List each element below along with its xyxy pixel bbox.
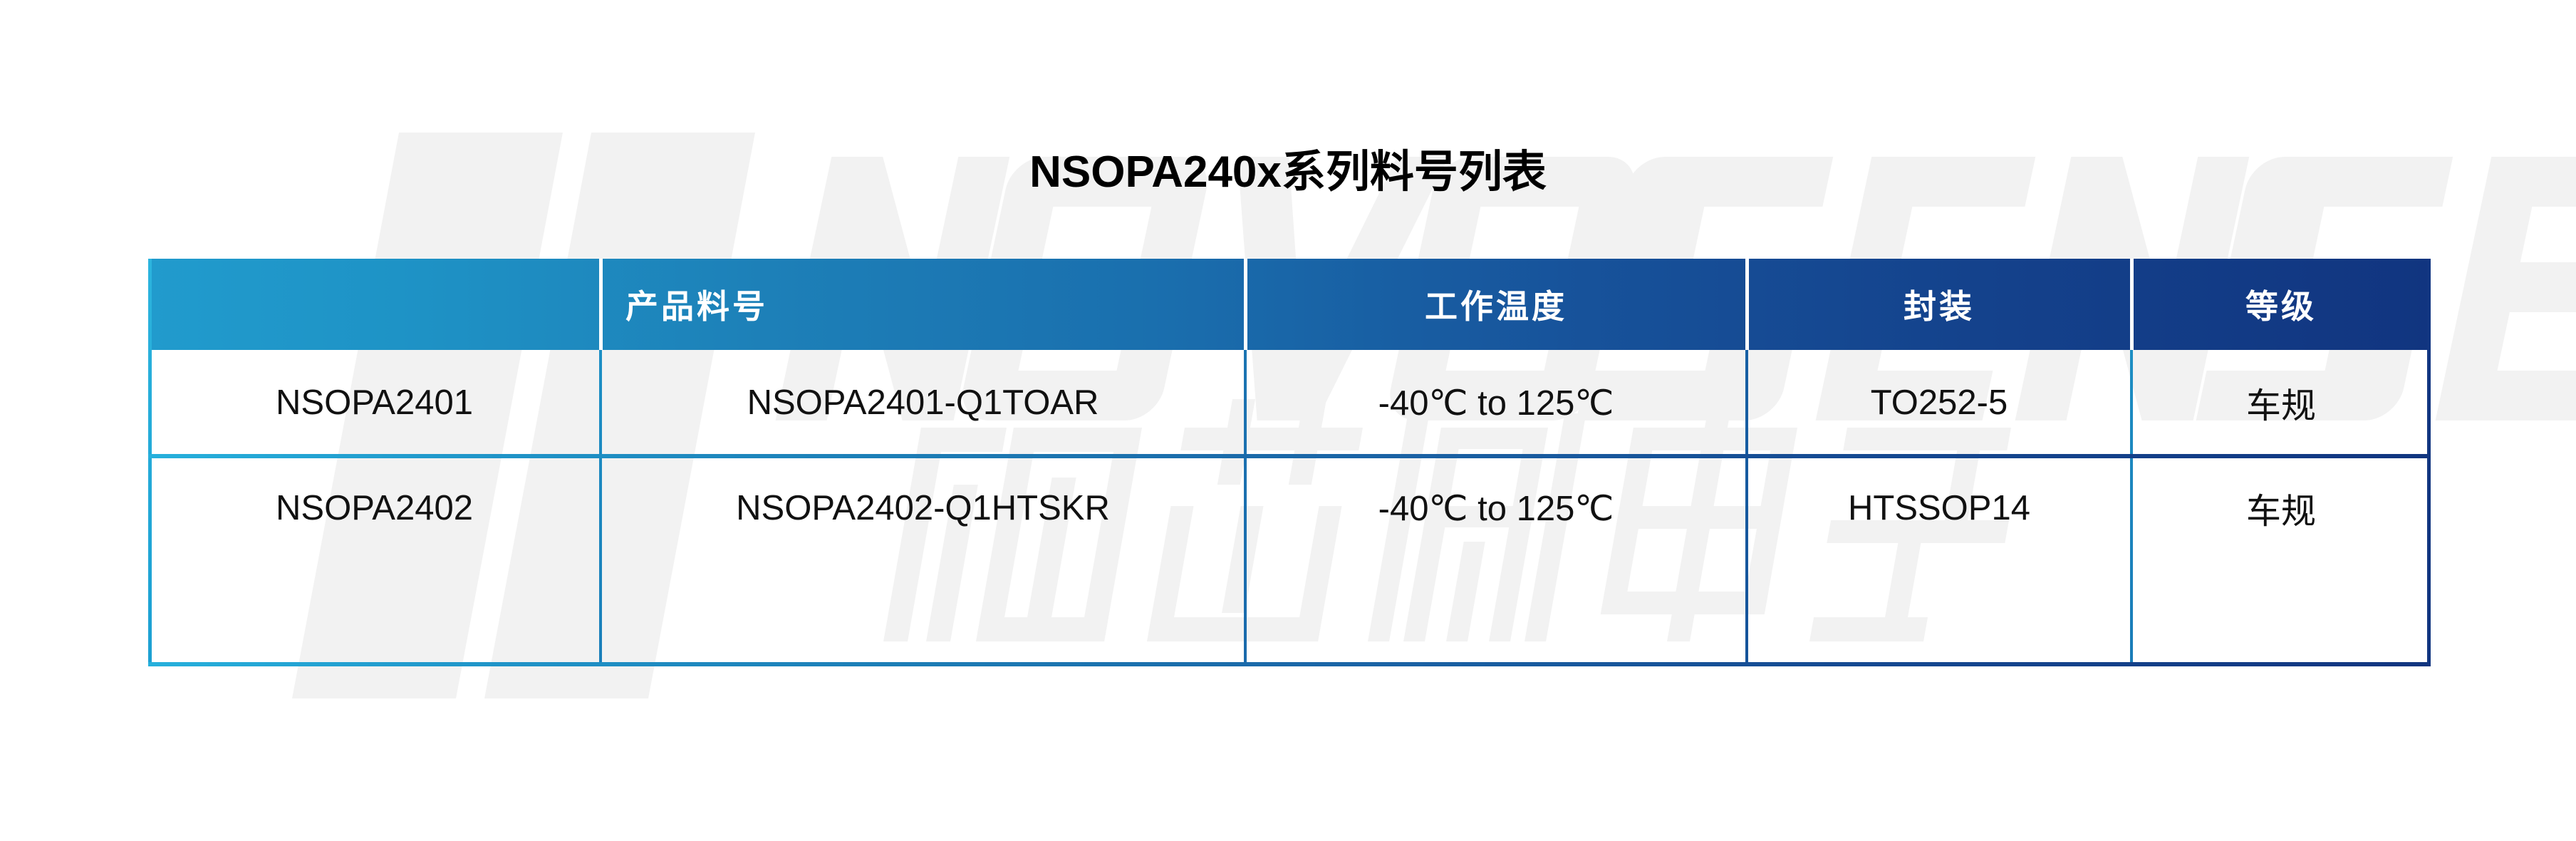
cell-temperature: -40℃ to 125℃ — [1245, 350, 1747, 455]
row-divider-1 — [148, 454, 2431, 458]
header-separator-1 — [599, 259, 603, 350]
column-rule-1 — [599, 350, 602, 666]
table-left-border — [148, 259, 152, 666]
table-bottom-border — [148, 662, 2431, 666]
table-row: NSOPA2402 NSOPA2402-Q1HTSKR -40℃ to 125℃… — [148, 455, 2431, 561]
column-rule-3 — [1745, 350, 1748, 666]
table-right-border — [2427, 259, 2431, 666]
page-title: NSOPA240x系列料号列表 — [0, 148, 2576, 197]
header-separator-2 — [1244, 259, 1247, 350]
column-header-temperature-label: 工作温度 — [1425, 288, 1567, 325]
cell-part-number: NSOPA2401-Q1TOAR — [601, 350, 1245, 455]
table-header-band — [148, 259, 2431, 350]
column-header-part-number-label: 产品料号 — [625, 288, 768, 325]
cell-grade: 车规 — [2131, 455, 2431, 561]
column-header-grade-label: 等级 — [2245, 288, 2317, 325]
cell-grade: 车规 — [2131, 350, 2431, 455]
cell-package: HTSSOP14 — [1747, 455, 2131, 561]
cell-part-number: NSOPA2402-Q1HTSKR — [601, 455, 1245, 561]
cell-series: NSOPA2402 — [148, 455, 601, 561]
column-rule-4 — [2130, 350, 2133, 666]
header-separator-3 — [1745, 259, 1749, 350]
header-separator-4 — [2130, 259, 2134, 350]
column-header-package-label: 封装 — [1904, 288, 1975, 325]
cell-series: NSOPA2401 — [148, 350, 601, 455]
cell-package: TO252-5 — [1747, 350, 2131, 455]
cell-temperature: -40℃ to 125℃ — [1245, 455, 1747, 561]
table-row: NSOPA2401 NSOPA2401-Q1TOAR -40℃ to 125℃ … — [148, 350, 2431, 455]
page-root: NSOPA240x系列料号列表 产品料号 工作温度 封装 — [0, 0, 2576, 841]
column-rule-2 — [1244, 350, 1247, 666]
